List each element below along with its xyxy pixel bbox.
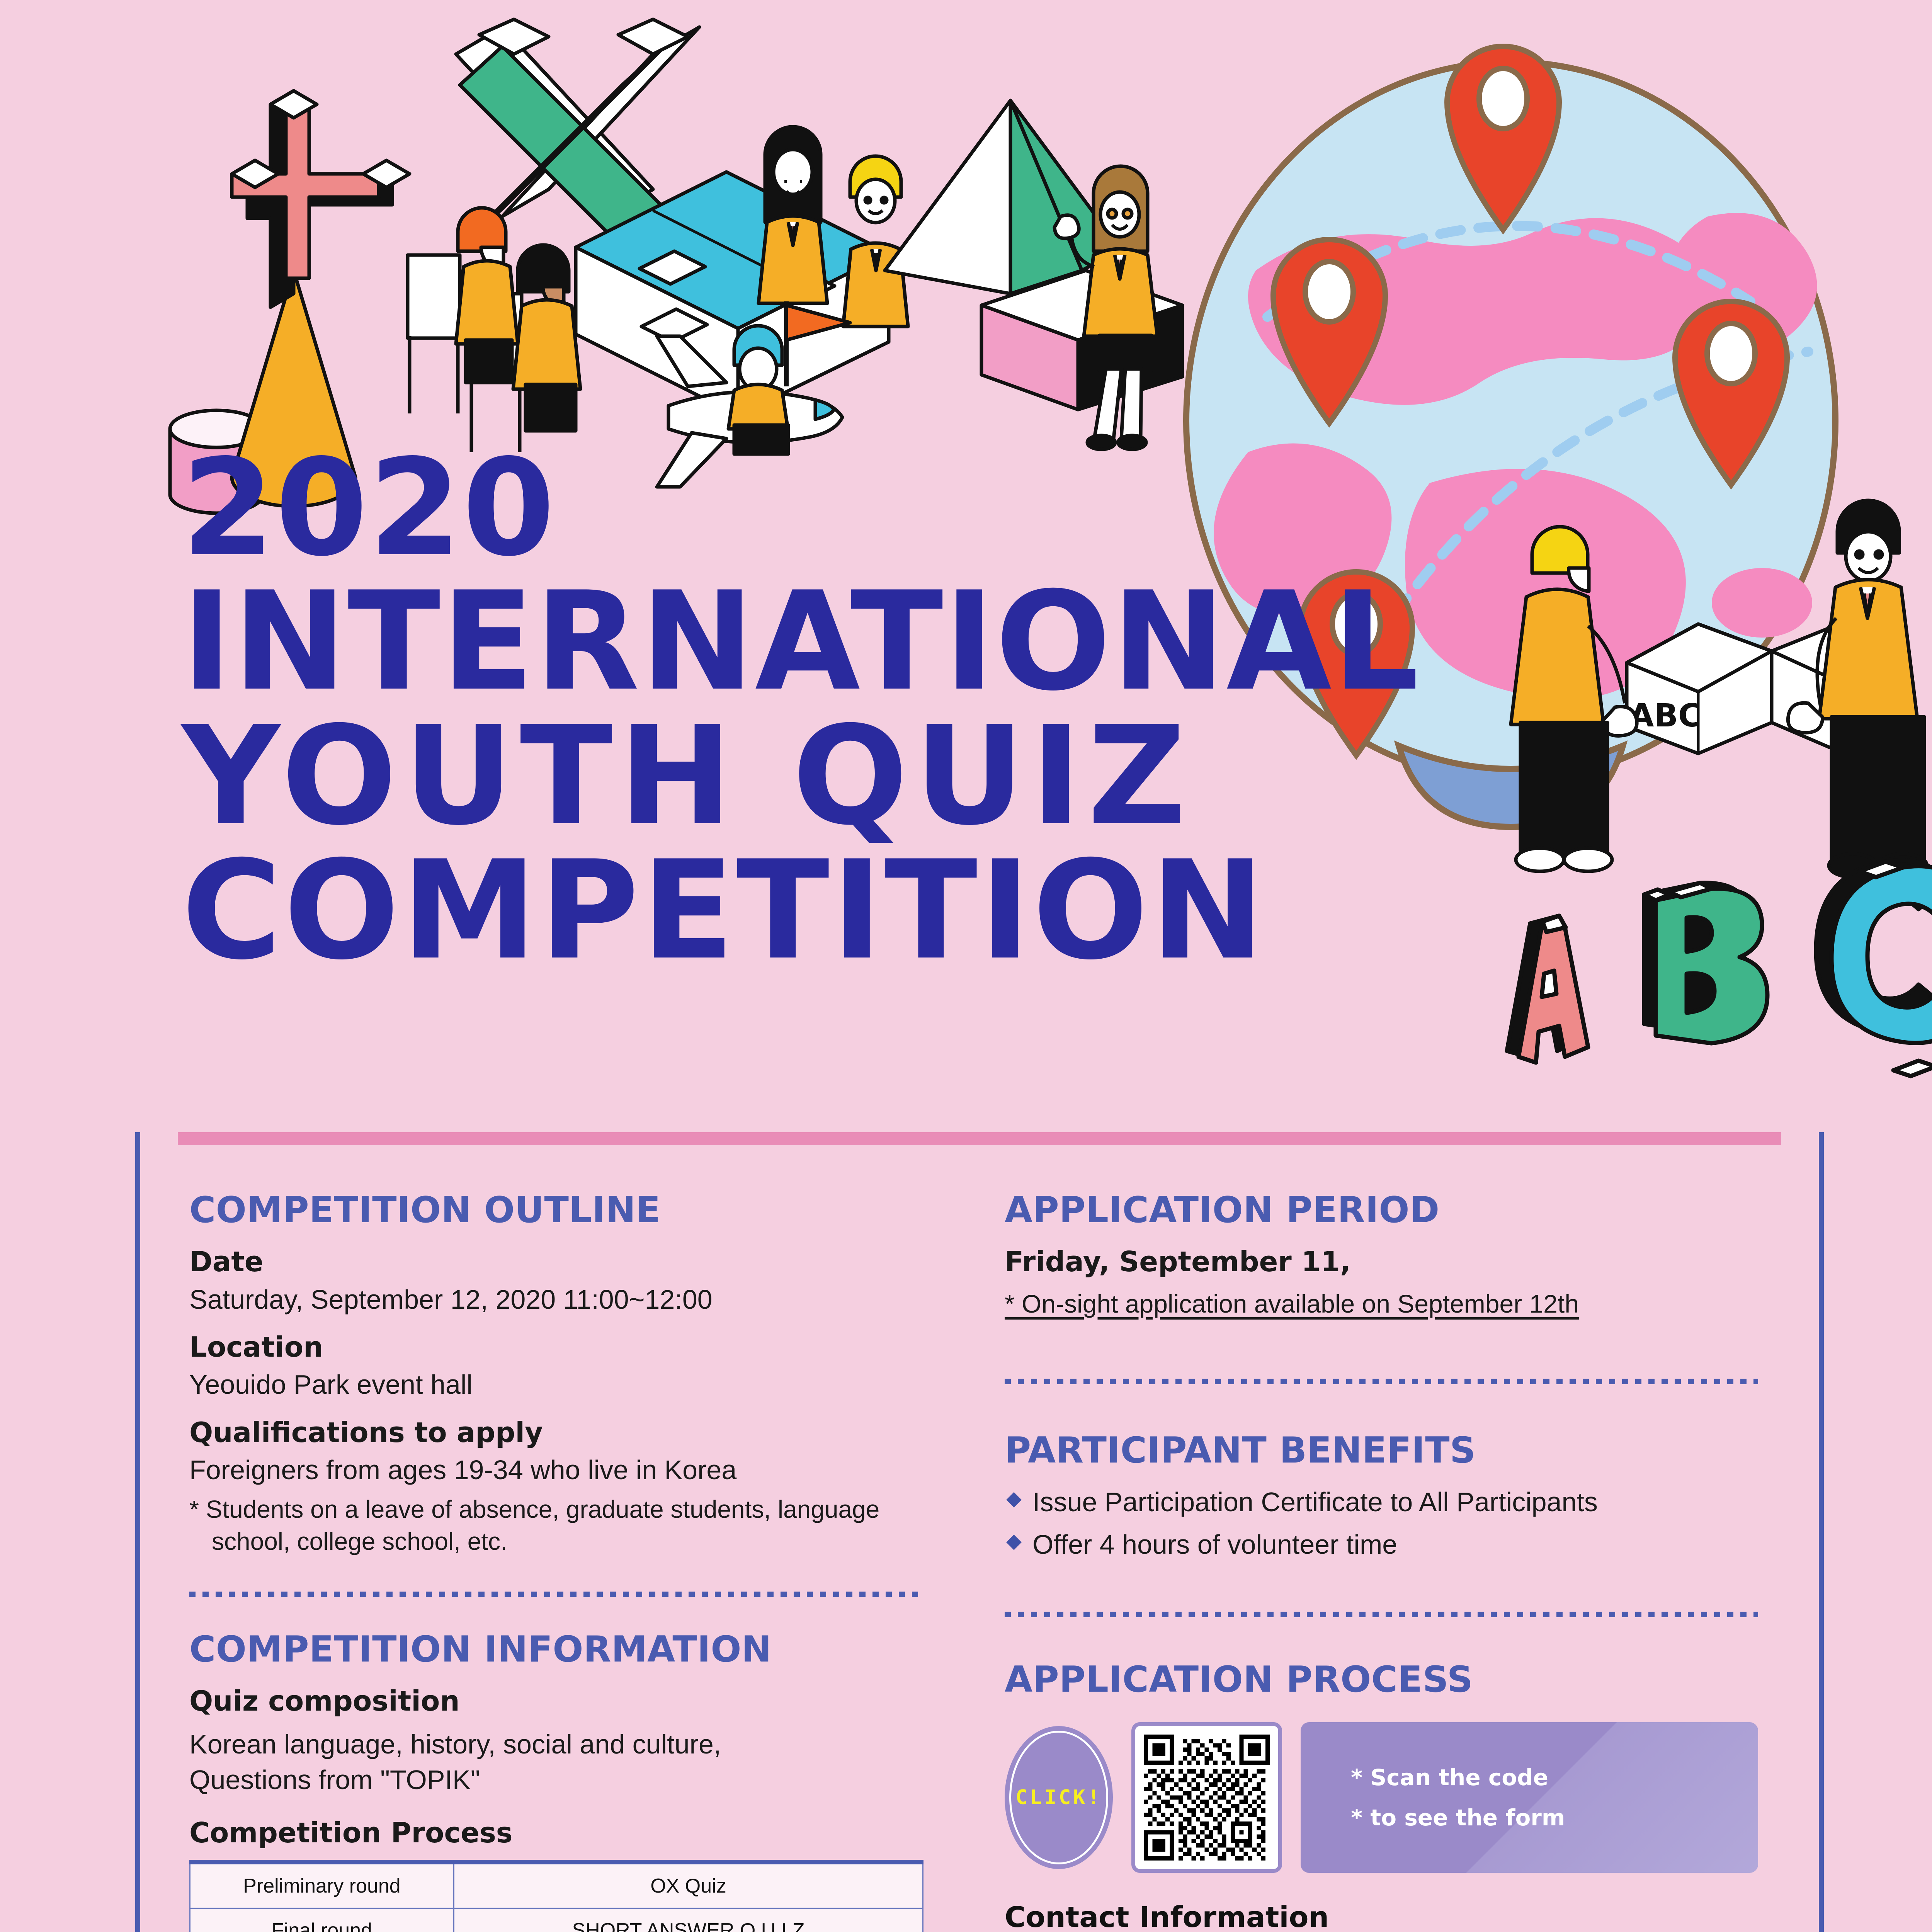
diamond-bullet-icon: ◆ bbox=[1006, 1529, 1022, 1554]
date-value: Saturday, September 12, 2020 11:00~12:00 bbox=[189, 1282, 923, 1317]
click-button-label: CLICK! bbox=[1015, 1786, 1102, 1809]
divider-right-2 bbox=[1005, 1612, 1758, 1617]
quiz-composition-line-1: Korean language, history, social and cul… bbox=[189, 1726, 923, 1762]
date-label: Date bbox=[189, 1245, 923, 1278]
participant-benefits-list: ◆ Issue Participation Certificate to All… bbox=[1005, 1485, 1758, 1561]
location-value: Yeouido Park event hall bbox=[189, 1367, 923, 1402]
title-line-youth-quiz: YOUTH QUIZ bbox=[182, 709, 1573, 844]
quiz-composition-label: Quiz composition bbox=[189, 1684, 923, 1718]
list-item: ◆ Offer 4 hours of volunteer time bbox=[1005, 1528, 1758, 1562]
qualifications-value: Foreigners from ages 19-34 who live in K… bbox=[189, 1452, 923, 1488]
title-line-competition: COMPETITION bbox=[182, 844, 1573, 978]
left-column: COMPETITION OUTLINE Date Saturday, Septe… bbox=[189, 1190, 923, 1932]
table-row: Final round SHORT ANSWER Q U I Z bbox=[190, 1908, 923, 1932]
competition-process-label: Competition Process bbox=[189, 1816, 923, 1849]
benefit-text-1: Offer 4 hours of volunteer time bbox=[1032, 1529, 1397, 1560]
qr-code[interactable] bbox=[1131, 1722, 1282, 1873]
location-label: Location bbox=[189, 1330, 923, 1364]
title-line-year: 2020 bbox=[182, 442, 1573, 575]
process-round-0: Preliminary round bbox=[190, 1862, 454, 1908]
process-format-0: OX Quiz bbox=[454, 1862, 923, 1908]
divider-right-1 bbox=[1005, 1379, 1758, 1384]
scan-instructions-panel: * Scan the code * to see the form bbox=[1301, 1722, 1758, 1873]
diamond-bullet-icon: ◆ bbox=[1006, 1486, 1022, 1511]
table-row: Preliminary round OX Quiz bbox=[190, 1862, 923, 1908]
page-title: 2020 INTERNATIONAL YOUTH QUIZ COMPETITIO… bbox=[182, 442, 1573, 978]
abc-box-label: ABC bbox=[1629, 697, 1701, 734]
title-line-international: INTERNATIONAL bbox=[182, 575, 1573, 709]
process-round-1: Final round bbox=[190, 1908, 454, 1932]
qualifications-note: * Students on a leave of absence, gradua… bbox=[189, 1493, 923, 1558]
application-process-heading: APPLICATION PROCESS bbox=[1005, 1660, 1758, 1699]
scan-line-1: * Scan the code bbox=[1351, 1764, 1758, 1791]
quiz-composition-line-2: Questions from "TOPIK" bbox=[189, 1762, 923, 1798]
content-frame: COMPETITION OUTLINE Date Saturday, Septe… bbox=[135, 1132, 1824, 1932]
scan-line-2: * to see the form bbox=[1351, 1804, 1758, 1831]
benefit-text-0: Issue Participation Certificate to All P… bbox=[1032, 1487, 1598, 1517]
competition-information-heading: COMPETITION INFORMATION bbox=[189, 1629, 923, 1669]
contact-information-heading: Contact Information bbox=[1005, 1901, 1758, 1932]
process-format-1: SHORT ANSWER Q U I Z bbox=[454, 1908, 923, 1932]
participant-benefits-heading: PARTICIPANT BENEFITS bbox=[1005, 1430, 1758, 1470]
frame-rule-left bbox=[135, 1132, 140, 1932]
qualifications-label: Qualifications to apply bbox=[189, 1416, 923, 1449]
competition-process-table: Preliminary round OX Quiz Final round SH… bbox=[189, 1860, 923, 1932]
application-period-note: * On-sight application available on Sept… bbox=[1005, 1287, 1758, 1321]
application-widgets: CLICK! bbox=[1005, 1722, 1758, 1873]
divider-left bbox=[189, 1592, 923, 1597]
frame-bar-top bbox=[178, 1132, 1781, 1145]
application-period-date: Friday, September 11, bbox=[1005, 1245, 1758, 1278]
list-item: ◆ Issue Participation Certificate to All… bbox=[1005, 1485, 1758, 1519]
competition-outline-heading: COMPETITION OUTLINE bbox=[189, 1190, 923, 1230]
frame-rule-right bbox=[1819, 1132, 1824, 1932]
right-column: APPLICATION PERIOD Friday, September 11,… bbox=[1005, 1190, 1758, 1932]
click-button[interactable]: CLICK! bbox=[1005, 1726, 1113, 1869]
application-period-heading: APPLICATION PERIOD bbox=[1005, 1190, 1758, 1230]
